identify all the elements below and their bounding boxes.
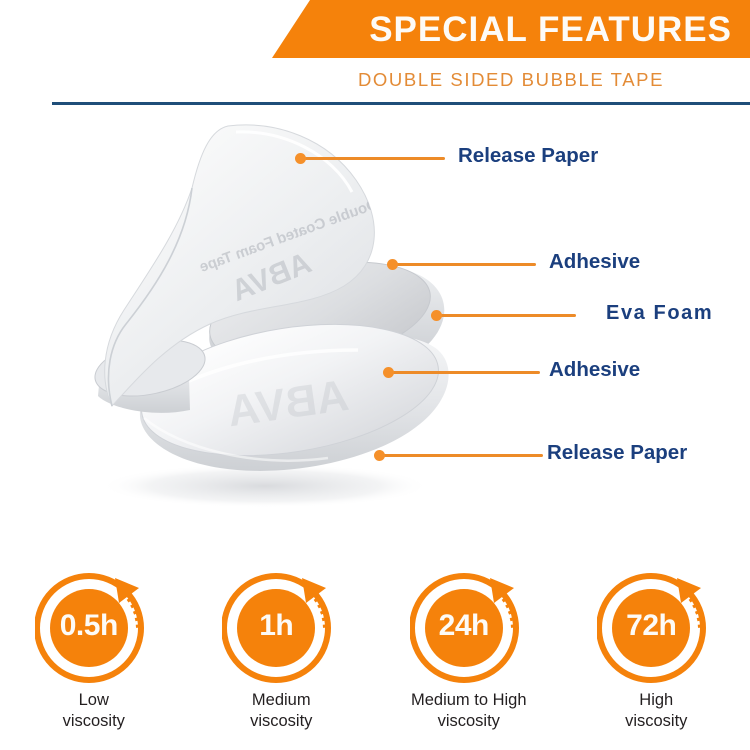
timer-caption: Medium viscosity <box>250 690 312 733</box>
header-subtitle-wrap: DOUBLE SIDED BUBBLE TAPE <box>272 60 750 100</box>
timer-1h: 1h Medium viscosity <box>188 572 376 750</box>
leader-line <box>388 371 540 374</box>
callout-label-eva-foam: Eva Foam <box>606 303 713 323</box>
callout-label-adhesive-top: Adhesive <box>549 252 640 273</box>
leader-dot <box>295 153 306 164</box>
timer-caption: Low viscosity <box>63 690 125 733</box>
leader-line <box>392 263 536 266</box>
timer-icon: 72h <box>597 572 715 684</box>
leader-dot <box>374 450 385 461</box>
timer-caption: Medium to High viscosity <box>411 690 527 733</box>
leader-line <box>379 454 543 457</box>
timer-24h: 24h Medium to High viscosity <box>375 572 563 750</box>
leader-line <box>436 314 576 317</box>
infographic-root: SPECIAL FEATURES DOUBLE SIDED BUBBLE TAP… <box>0 0 750 750</box>
viscosity-timer-row: 0.5h Low viscosity <box>0 572 750 750</box>
page-title: SPECIAL FEATURES <box>369 12 750 47</box>
callout-label-release-paper-top: Release Paper <box>458 146 598 167</box>
timer-icon: 1h <box>222 572 340 684</box>
callout-label-release-paper-bottom: Release Paper <box>547 443 687 464</box>
header-banner: SPECIAL FEATURES <box>272 0 750 58</box>
header-divider <box>52 102 750 105</box>
page-subtitle: DOUBLE SIDED BUBBLE TAPE <box>358 69 664 91</box>
leader-dot <box>431 310 442 321</box>
timer-72h: 72h High viscosity <box>563 572 750 750</box>
timer-0-5h: 0.5h Low viscosity <box>0 572 188 750</box>
timer-caption: High viscosity <box>625 690 687 733</box>
leader-dot <box>387 259 398 270</box>
timer-icon: 0.5h <box>35 572 153 684</box>
timer-icon: 24h <box>410 572 528 684</box>
leader-line <box>300 157 445 160</box>
leader-dot <box>383 367 394 378</box>
callout-label-adhesive-bottom: Adhesive <box>549 360 640 381</box>
product-photo: ABVA Double Coated Foam Tape ABVA <box>40 118 470 518</box>
